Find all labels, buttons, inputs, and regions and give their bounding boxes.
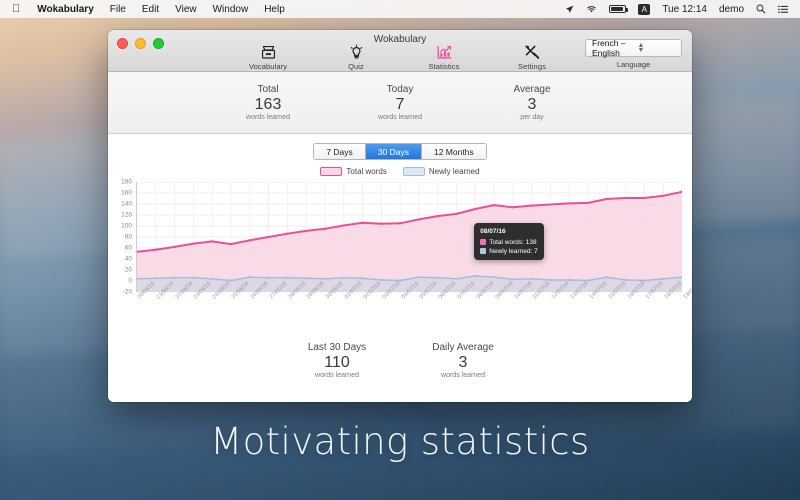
summary-value: 7 <box>359 96 441 114</box>
summary-stat-average: Average 3 per day <box>491 84 573 121</box>
range-tabs-wrapper: 7 Days 30 Days 12 Months <box>108 143 692 160</box>
y-tick-label: 60 <box>125 245 132 252</box>
menu-bar-clock[interactable]: Tue 12:14 <box>656 4 713 15</box>
wifi-icon[interactable] <box>580 5 603 14</box>
toolbar-label-vocabulary: Vocabulary <box>241 62 295 71</box>
toolbar-item-vocabulary[interactable]: Vocabulary <box>241 42 295 71</box>
tooltip-swatch-pink-icon <box>480 239 486 245</box>
language-value: French – English <box>590 38 634 58</box>
summary-sub: words learned <box>359 114 441 121</box>
menu-item-view[interactable]: View <box>167 4 205 15</box>
statistics-panel: 7 Days 30 Days 12 Months Total words New… <box>108 134 692 402</box>
y-tick-label: -20 <box>123 289 132 296</box>
menu-item-window[interactable]: Window <box>205 4 257 15</box>
language-label: Language <box>585 60 682 69</box>
toolbar-label-quiz: Quiz <box>329 62 383 71</box>
notification-center-icon[interactable] <box>772 5 794 14</box>
app-window: Wokabulary Vocabulary <box>108 30 692 402</box>
apple-menu-icon[interactable]:  <box>6 3 29 16</box>
toolbar-label-settings: Settings <box>505 62 559 71</box>
menu-item-app[interactable]: Wokabulary <box>29 4 102 15</box>
summary-sub: per day <box>491 114 573 121</box>
toolbar-label-statistics: Statistics <box>417 62 471 71</box>
statistics-chart: 020406080100120140160180-20 20/06/1621/0… <box>108 182 692 312</box>
tooltip-swatch-blue-icon <box>480 248 486 254</box>
tooltip-new-row: Newly learned: 7 <box>480 247 537 256</box>
chart-tooltip: 08/07/16 Total words: 138 Newly learned:… <box>474 223 543 260</box>
legend-swatch-pink-icon <box>320 167 342 176</box>
summary-stat-today: Today 7 words learned <box>359 84 441 121</box>
stepper-arrows-icon[interactable]: ▲▼ <box>634 43 678 53</box>
x-tick-label: 19/07/16 <box>683 281 692 301</box>
bottom-stat-last-30-days: Last 30 Days 110 words learned <box>296 342 378 379</box>
toolbar-item-quiz[interactable]: Quiz <box>329 42 383 71</box>
y-tick-label: 20 <box>125 267 132 274</box>
chart-plot-area[interactable] <box>136 182 682 292</box>
y-tick-label: 40 <box>125 256 132 263</box>
y-tick-label: 0 <box>128 278 132 285</box>
tab-7-days[interactable]: 7 Days <box>314 144 364 159</box>
legend-label: Newly learned <box>429 167 480 176</box>
bottom-sub: words learned <box>422 372 504 379</box>
archive-box-icon <box>241 42 295 61</box>
summary-sub: words learned <box>227 114 309 121</box>
bottom-heading: Last 30 Days <box>296 342 378 353</box>
tools-icon <box>505 42 559 61</box>
chart-svg <box>137 182 682 292</box>
chart-y-axis: 020406080100120140160180-20 <box>108 182 134 292</box>
location-arrow-icon[interactable] <box>559 5 580 14</box>
chart-legend: Total words Newly learned <box>108 167 692 176</box>
toolbar-item-settings[interactable]: Settings <box>505 42 559 71</box>
tooltip-date: 08/07/16 <box>480 227 537 236</box>
tooltip-total-row: Total words: 138 <box>480 238 537 247</box>
bottom-value: 3 <box>422 354 504 372</box>
bar-chart-icon <box>417 42 471 61</box>
y-tick-label: 180 <box>121 179 132 186</box>
language-selector-group: French – English ▲▼ Language <box>585 39 682 69</box>
summary-strip: Total 163 words learned Today 7 words le… <box>108 72 692 134</box>
bottom-value: 110 <box>296 354 378 372</box>
legend-swatch-blue-icon <box>403 167 425 176</box>
summary-value: 3 <box>491 96 573 114</box>
legend-item-newly-learned[interactable]: Newly learned <box>403 167 480 176</box>
bottom-stat-daily-average: Daily Average 3 words learned <box>422 342 504 379</box>
lightbulb-icon <box>329 42 383 61</box>
tooltip-total-label: Total words: 138 <box>489 238 536 247</box>
summary-heading: Today <box>359 84 441 95</box>
menu-bar-user[interactable]: demo <box>713 4 750 15</box>
y-tick-label: 140 <box>121 201 132 208</box>
summary-stat-total: Total 163 words learned <box>227 84 309 121</box>
toolbar-item-statistics[interactable]: Statistics <box>417 42 471 71</box>
menu-item-file[interactable]: File <box>102 4 134 15</box>
tab-30-days[interactable]: 30 Days <box>365 144 421 159</box>
range-tabs: 7 Days 30 Days 12 Months <box>313 143 486 160</box>
y-tick-label: 120 <box>121 212 132 219</box>
summary-heading: Total <box>227 84 309 95</box>
battery-icon[interactable] <box>603 5 632 13</box>
language-select[interactable]: French – English ▲▼ <box>585 39 682 57</box>
y-tick-label: 80 <box>125 234 132 241</box>
search-icon[interactable] <box>750 4 772 14</box>
menu-item-edit[interactable]: Edit <box>134 4 167 15</box>
legend-label: Total words <box>346 167 386 176</box>
window-titlebar[interactable]: Wokabulary Vocabulary <box>108 30 692 72</box>
tooltip-new-label: Newly learned: 7 <box>489 247 537 256</box>
y-tick-label: 160 <box>121 190 132 197</box>
y-tick-label: 100 <box>121 223 132 230</box>
macos-menu-bar:  Wokabulary File Edit View Window Help … <box>0 0 800 18</box>
summary-heading: Average <box>491 84 573 95</box>
menu-item-help[interactable]: Help <box>256 4 293 15</box>
legend-item-total-words[interactable]: Total words <box>320 167 386 176</box>
marketing-caption: Motivating statistics <box>0 420 800 463</box>
bottom-stats: Last 30 Days 110 words learned Daily Ave… <box>108 342 692 379</box>
summary-value: 163 <box>227 96 309 114</box>
input-source-icon[interactable]: A <box>632 4 656 15</box>
chart-x-axis: 20/06/1621/06/1622/06/1623/06/1624/06/16… <box>136 294 682 324</box>
tab-12-months[interactable]: 12 Months <box>421 144 486 159</box>
bottom-sub: words learned <box>296 372 378 379</box>
bottom-heading: Daily Average <box>422 342 504 353</box>
